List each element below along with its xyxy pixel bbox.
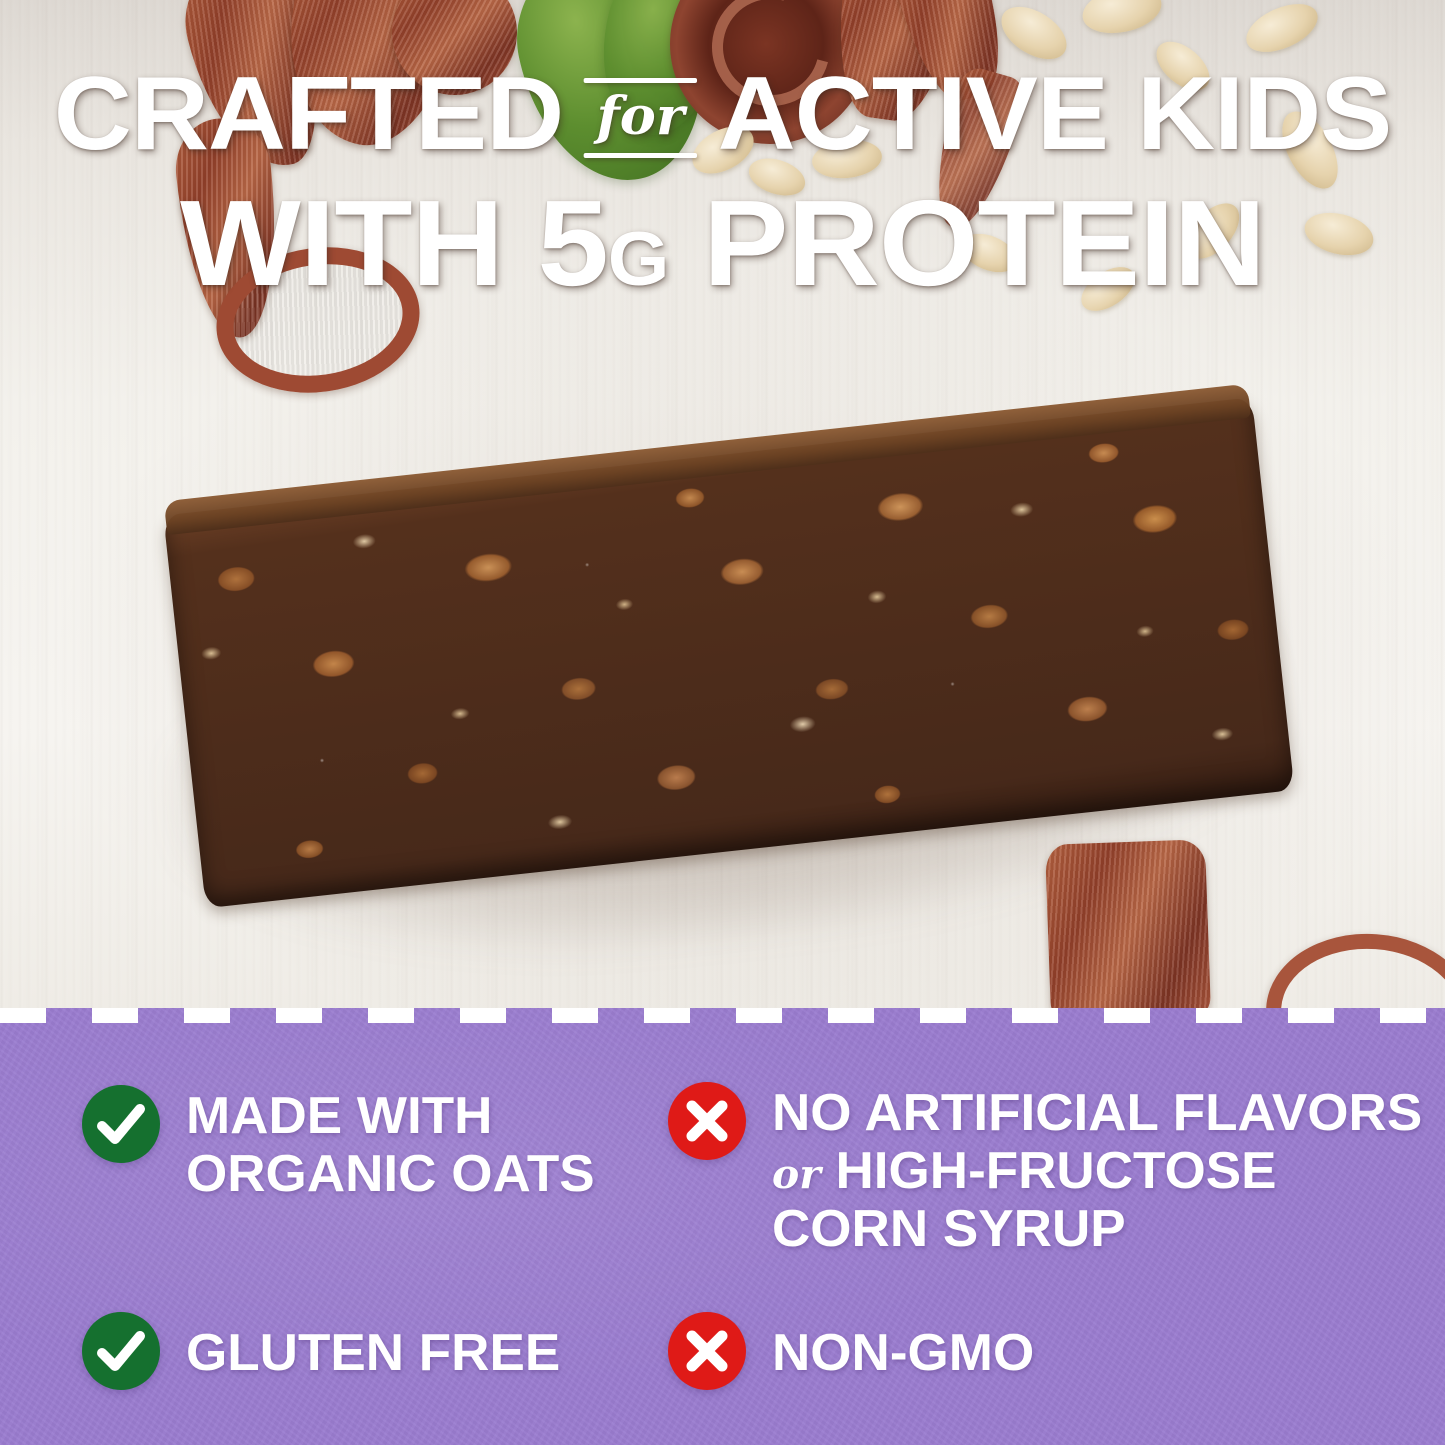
claims-list: MADE WITH ORGANIC OATS NO ARTIFICIAL FLA… <box>0 1008 1445 1445</box>
rolled-oat <box>1078 0 1165 40</box>
product-photo: CRAFTED for ACTIVE KIDS WITH 5G PROTEIN <box>0 0 1445 1010</box>
claim-text-gluten-free: GLUTEN FREE <box>186 1312 560 1382</box>
claim-item-organic-oats: MADE WITH ORGANIC OATS <box>82 1085 587 1203</box>
rolled-oat <box>1271 103 1349 198</box>
claims-panel: MADE WITH ORGANIC OATS NO ARTIFICIAL FLA… <box>0 1008 1445 1445</box>
dashed-divider <box>0 1008 1445 1023</box>
rolled-oat <box>1177 194 1249 268</box>
claim-text-non-gmo: NON-GMO <box>772 1312 1034 1382</box>
rolled-oat <box>810 136 884 181</box>
claim-item-gluten-free: GLUTEN FREE <box>82 1312 553 1390</box>
cross-circle-icon <box>668 1082 746 1160</box>
claim-text-organic-oats: MADE WITH ORGANIC OATS <box>186 1085 595 1203</box>
claim-line: GLUTEN FREE <box>186 1324 560 1382</box>
rolled-oat <box>992 0 1075 70</box>
claim-line-rest: HIGH-FRUCTOSE <box>835 1142 1276 1200</box>
claim-line: MADE WITH <box>186 1087 595 1145</box>
claim-line: NON-GMO <box>772 1324 1034 1382</box>
rolled-oat <box>744 152 810 202</box>
check-circle-icon <box>82 1085 160 1163</box>
product-marketing-banner: CRAFTED for ACTIVE KIDS WITH 5G PROTEIN <box>0 0 1445 1445</box>
chocolate-curl <box>1045 839 1211 1010</box>
claim-line: CORN SYRUP <box>772 1200 1422 1258</box>
headline-protein-unit: G <box>608 218 669 302</box>
rolled-oat <box>1300 206 1378 262</box>
claim-or-script: or <box>772 1151 821 1198</box>
claim-item-non-gmo: NON-GMO <box>668 1312 1029 1390</box>
claim-line: NO ARTIFICIAL FLAVORS <box>772 1084 1422 1142</box>
rolled-oat <box>1148 32 1219 99</box>
claim-line: or HIGH-FRUCTOSE <box>772 1142 1422 1200</box>
chocolate-curl-ring <box>1261 927 1445 1010</box>
claim-line: ORGANIC OATS <box>186 1145 595 1203</box>
claim-item-no-artificial-flavors: NO ARTIFICIAL FLAVORS or HIGH-FRUCTOSE C… <box>668 1082 1409 1259</box>
chocolate-curl <box>919 63 1030 236</box>
rolled-oat <box>1239 0 1325 62</box>
claim-text-no-artificial-flavors: NO ARTIFICIAL FLAVORS or HIGH-FRUCTOSE C… <box>772 1082 1422 1259</box>
check-circle-icon <box>82 1312 160 1390</box>
rolled-oat <box>956 226 1023 279</box>
cross-circle-icon <box>668 1312 746 1390</box>
